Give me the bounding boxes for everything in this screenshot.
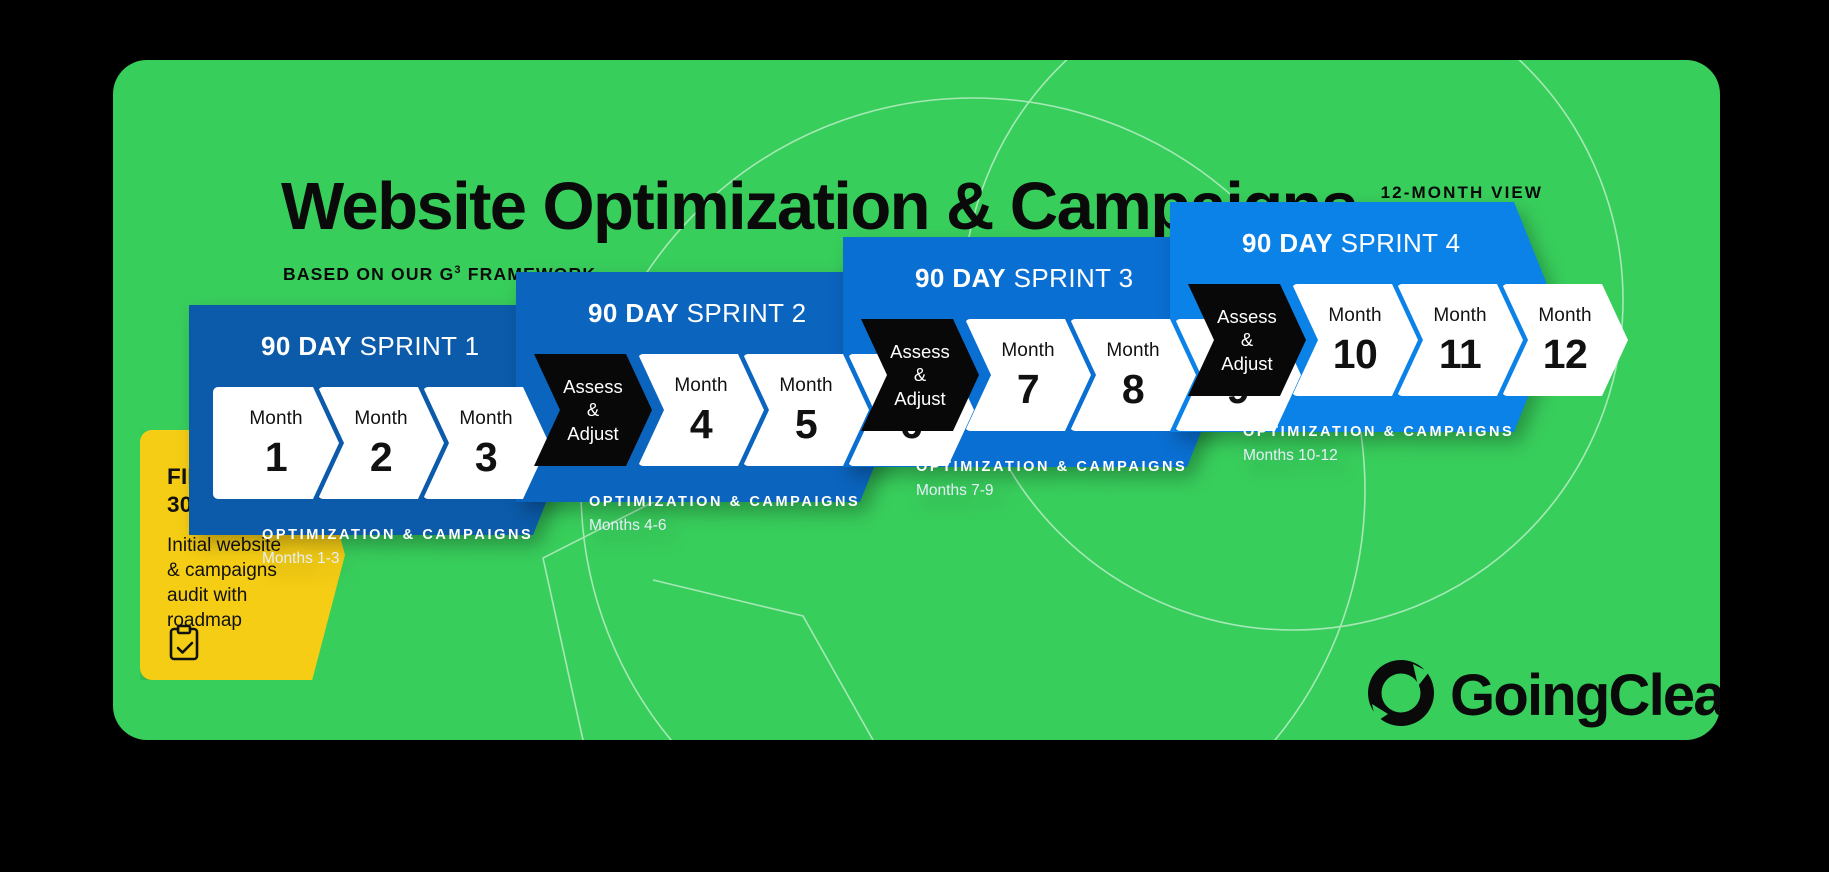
sprint-heading-3: 90 DAY SPRINT 3 [915, 263, 1133, 294]
month-number: 11 [1439, 334, 1481, 375]
month-label: Month [459, 409, 512, 428]
subtitle-superscript: 3 [454, 264, 461, 276]
month-number: 2 [370, 437, 392, 478]
clipboard-check-icon [167, 624, 201, 667]
sprint-heading-bold: 90 DAY [1242, 228, 1333, 258]
month-label: Month [1001, 341, 1054, 360]
month-label: Month [1328, 306, 1381, 325]
sprint-heading-rest: SPRINT 2 [679, 298, 806, 328]
sprint-footer-1: OPTIMIZATION & CAMPAIGNSMonths 1-3 [262, 527, 533, 568]
goingclear-logo: GoingClear [1366, 658, 1720, 733]
sprint-footer-months: Months 1-3 [262, 550, 533, 568]
sprint-footer-4: OPTIMIZATION & CAMPAIGNSMonths 10-12 [1243, 424, 1514, 465]
sprint-heading-bold: 90 DAY [588, 298, 679, 328]
month-number: 4 [690, 404, 712, 445]
sprint-footer-months: Months 10-12 [1243, 447, 1514, 465]
sprint-footer-months: Months 7-9 [916, 482, 1187, 500]
month-chevron-1[interactable]: Month1 [213, 387, 339, 499]
month-label: Month [1538, 306, 1591, 325]
sprint-footer-label: OPTIMIZATION & CAMPAIGNS [916, 459, 1187, 475]
month-number: 5 [795, 404, 817, 445]
subtitle-pre: BASED ON OUR G [283, 264, 454, 284]
month-label: Month [1106, 341, 1159, 360]
month-number: 3 [475, 437, 497, 478]
assess-adjust-line-2: & [587, 398, 599, 421]
month-number: 1 [265, 437, 287, 478]
sprint-heading-4: 90 DAY SPRINT 4 [1242, 228, 1460, 259]
month-label: Month [779, 376, 832, 395]
month-number: 8 [1122, 369, 1144, 410]
assess-adjust-line-1: Assess [890, 340, 950, 363]
sprint-footer-label: OPTIMIZATION & CAMPAIGNS [1243, 424, 1514, 440]
assess-adjust-line-2: & [914, 363, 926, 386]
sprint-footer-2: OPTIMIZATION & CAMPAIGNSMonths 4-6 [589, 494, 860, 535]
month-number: 12 [1543, 334, 1588, 375]
assess-adjust-line-1: Assess [563, 375, 623, 398]
green-card: Website Optimization & Campaigns BASED O… [113, 60, 1720, 740]
assess-adjust-line-3: Adjust [567, 422, 618, 445]
month-label: Month [1433, 306, 1486, 325]
sprint-heading-2: 90 DAY SPRINT 2 [588, 298, 806, 329]
assess-adjust-line-2: & [1241, 328, 1253, 351]
sprint-footer-months: Months 4-6 [589, 517, 860, 535]
sprint-footer-label: OPTIMIZATION & CAMPAIGNS [589, 494, 860, 510]
sprint-heading-bold: 90 DAY [261, 331, 352, 361]
logo-wordmark: GoingClear [1450, 662, 1720, 729]
month-number: 10 [1333, 334, 1378, 375]
month-number: 7 [1017, 369, 1039, 410]
sprint-heading-rest: SPRINT 3 [1006, 263, 1133, 293]
sprint-footer-3: OPTIMIZATION & CAMPAIGNSMonths 7-9 [916, 459, 1187, 500]
month-label: Month [674, 376, 727, 395]
assess-adjust-line-1: Assess [1217, 305, 1277, 328]
month-label: Month [354, 409, 407, 428]
month-label: Month [249, 409, 302, 428]
view-label: 12-MONTH VIEW [1381, 183, 1543, 203]
sprint-heading-1: 90 DAY SPRINT 1 [261, 331, 479, 362]
assess-adjust-line-3: Adjust [1221, 352, 1272, 375]
infographic-root: Website Optimization & Campaigns BASED O… [0, 0, 1829, 872]
sprint-heading-rest: SPRINT 1 [352, 331, 479, 361]
assess-adjust-line-3: Adjust [894, 387, 945, 410]
ring-mark-icon [1366, 658, 1436, 733]
sprint-footer-label: OPTIMIZATION & CAMPAIGNS [262, 527, 533, 543]
sprint-heading-bold: 90 DAY [915, 263, 1006, 293]
sprint-heading-rest: SPRINT 4 [1333, 228, 1460, 258]
